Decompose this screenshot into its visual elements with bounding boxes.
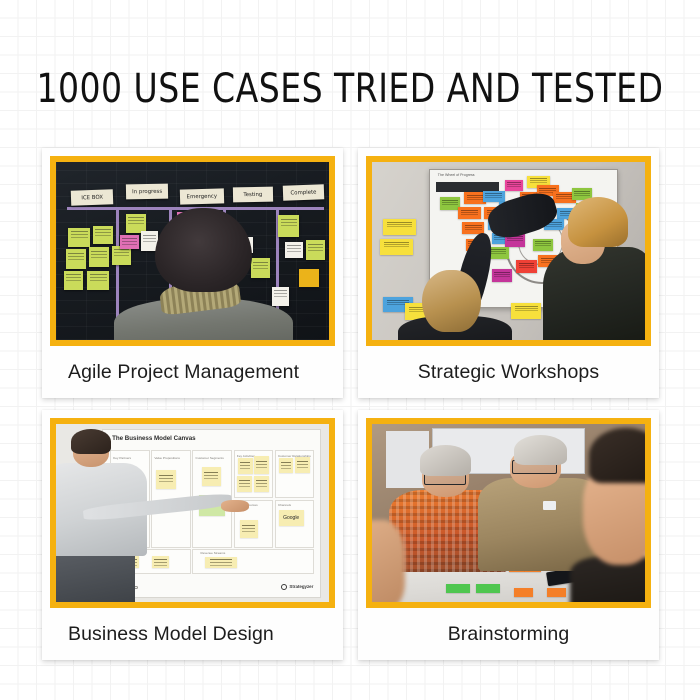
sticky-note <box>505 180 524 191</box>
sticky-note <box>514 588 533 597</box>
sticky-note <box>89 247 109 267</box>
sticky-note <box>476 584 501 593</box>
card-label: Strategic Workshops <box>358 346 659 398</box>
card-image-frame: ICE BOX In progress Emergency Testing Co… <box>50 156 335 346</box>
card-image-frame: The Business Model Canvas Key Partners K… <box>50 418 335 608</box>
canvas-cell: Customer Relationships <box>275 450 315 498</box>
sticky-note <box>446 584 471 593</box>
kanban-column-header: Emergency <box>180 188 224 204</box>
card-label: Agile Project Management <box>42 346 343 398</box>
presenter-trousers <box>56 549 135 602</box>
card-label: Business Model Design <box>42 608 343 660</box>
table-brainstorm-photo <box>372 424 645 602</box>
use-case-card-agile-project-management[interactable]: ICE BOX In progress Emergency Testing Co… <box>42 148 343 398</box>
use-case-card-business-model-design[interactable]: The Business Model Canvas Key Partners K… <box>42 410 343 660</box>
sticky-note <box>440 197 460 209</box>
person-hair <box>155 208 251 292</box>
person-hair <box>568 197 628 247</box>
person-viewing-board <box>146 208 261 340</box>
sticky-note <box>295 457 310 474</box>
sticky-note <box>202 467 222 486</box>
person-reaching-right <box>539 183 645 340</box>
sticky-note <box>299 269 319 287</box>
brand-name: Strategyzer <box>289 584 313 589</box>
canvas-cell: Revenue Streams <box>192 549 314 574</box>
sticky-note <box>279 458 293 474</box>
use-case-card-strategic-workshops[interactable]: The Wheel of Progress <box>358 148 659 398</box>
brand-mark-icon <box>281 584 287 590</box>
sticky-note <box>66 249 86 269</box>
sticky-note <box>254 476 269 492</box>
sticky-note <box>64 271 83 291</box>
sticky-note <box>272 287 290 307</box>
sticky-note <box>516 260 536 272</box>
sticky-note <box>278 215 298 236</box>
person-hair <box>422 270 481 332</box>
sticky-note <box>458 207 480 219</box>
canvas-cell: Channels Google <box>275 500 315 548</box>
kanban-column-header: In progress <box>125 184 168 200</box>
sticky-note <box>254 456 269 474</box>
person-hair <box>420 445 471 476</box>
kanban-column-header: Testing <box>233 187 273 203</box>
person-hair <box>514 435 567 466</box>
sticky-note <box>87 271 109 291</box>
person-foreground-left-blurred <box>372 520 405 602</box>
sticky-note <box>306 240 325 260</box>
use-case-card-brainstorming[interactable]: Brainstorming <box>358 410 659 660</box>
person-reaching-left <box>405 237 514 340</box>
presenter-hair <box>71 429 110 454</box>
sticky-note <box>156 470 176 489</box>
google-sticky-note: Google <box>279 510 304 527</box>
use-case-card-grid: ICE BOX In progress Emergency Testing Co… <box>42 148 659 660</box>
presenter-shirt <box>56 463 147 556</box>
sticky-note <box>483 191 505 202</box>
canvas-cell-title: Customer Segments <box>196 456 224 460</box>
whiteboard-title: The Wheel of Progress <box>438 173 475 177</box>
sticky-note <box>240 520 258 538</box>
card-label: Brainstorming <box>358 608 659 660</box>
person-foreground-right-blurred <box>579 428 645 602</box>
kanban-column-header: Complete <box>282 184 323 200</box>
presenter-hand <box>221 500 249 512</box>
card-image-frame: The Wheel of Progress <box>366 156 651 346</box>
canvas-cell: Key Activities <box>234 450 274 498</box>
sticky-note <box>383 219 416 235</box>
sticky-note <box>120 235 139 249</box>
sticky-note <box>93 226 113 244</box>
card-image-frame <box>366 418 651 608</box>
canvas-cell-title: Channels <box>278 503 291 507</box>
person-center <box>492 435 590 563</box>
sticky-note <box>68 228 90 248</box>
presenter <box>56 424 135 602</box>
sticky-note <box>547 588 566 597</box>
sticky-note <box>285 242 303 258</box>
kanban-column-header: ICE BOX <box>71 189 114 205</box>
sticky-note <box>152 556 169 568</box>
business-model-canvas-photo: The Business Model Canvas Key Partners K… <box>56 424 329 602</box>
page-title: 1000 USE CASES TRIED AND TESTED <box>28 66 672 112</box>
person-body <box>570 557 645 602</box>
sticky-note <box>238 458 253 475</box>
canvas-cell-title: Revenue Streams <box>201 551 226 555</box>
person-hair <box>589 428 645 484</box>
name-badge <box>543 501 556 510</box>
workshop-whiteboard-photo: The Wheel of Progress <box>372 162 645 340</box>
canvas-cell-title: Value Propositions <box>154 456 180 460</box>
sticky-note <box>237 476 252 492</box>
canvas-brand: Strategyzer <box>281 584 313 590</box>
sticky-note <box>205 557 236 568</box>
kanban-board-photo: ICE BOX In progress Emergency Testing Co… <box>56 162 329 340</box>
sticky-note <box>126 214 146 234</box>
sticky-note <box>511 303 541 319</box>
